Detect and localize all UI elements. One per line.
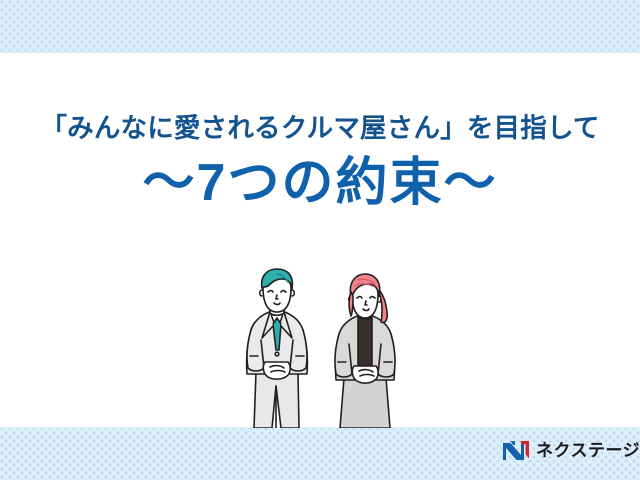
poster-canvas: 「みんなに愛されるクルマ屋さん」を目指して ～7つの約束～ <box>0 0 640 480</box>
brand-wordmark: ネクステージ <box>536 442 640 459</box>
headline-line-1: 「みんなに愛されるクルマ屋さん」を目指して <box>0 112 640 145</box>
staff-illustration <box>232 268 412 428</box>
headline-line-2: ～7つの約束～ <box>0 155 640 212</box>
brand-logo: ネクステージ <box>502 440 640 461</box>
nextage-n-logo-icon <box>502 440 530 461</box>
female-staff-figure <box>335 274 395 428</box>
headline-block: 「みんなに愛されるクルマ屋さん」を目指して ～7つの約束～ <box>0 112 640 212</box>
male-staff-figure <box>247 269 308 428</box>
decorative-dot-band-top <box>0 0 640 53</box>
